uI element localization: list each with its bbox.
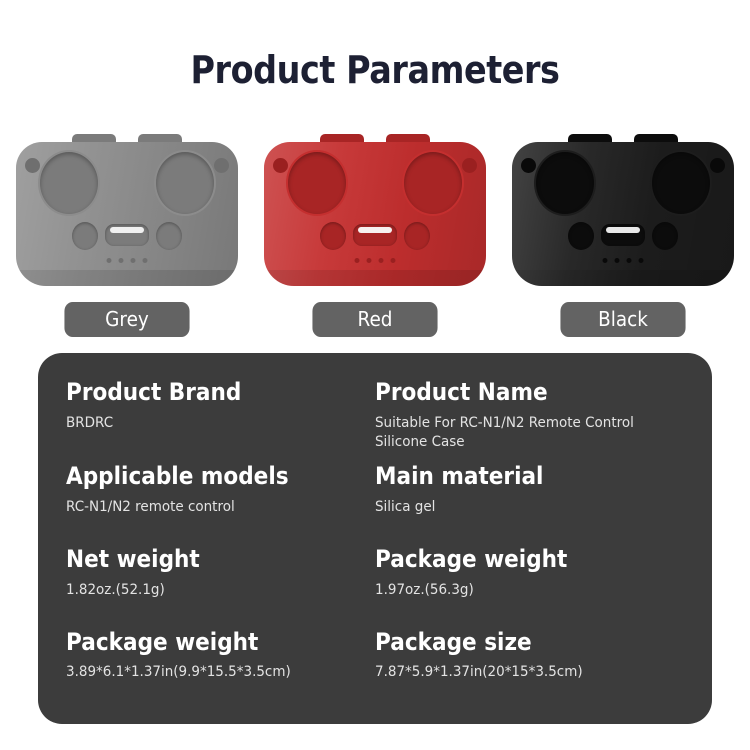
corner-pin-left-icon: [273, 158, 288, 173]
page-title: Product Parameters: [45, 48, 705, 92]
center-slot-icon: [105, 224, 149, 246]
spec-cell-package-weight: Package weight 1.97oz.(56.3g): [375, 536, 684, 619]
spec-value: 3.89*6.1*1.37in(9.9*15.5*3.5cm): [66, 663, 346, 701]
side-button-right-icon: [404, 222, 430, 250]
spec-value: BRDRC: [66, 414, 346, 452]
spec-value: 1.97oz.(56.3g): [375, 581, 655, 619]
indicator-dots-icon: [603, 258, 644, 263]
spec-cell-net-weight: Net weight 1.82oz.(52.1g): [66, 536, 375, 619]
controller-case-grey: [16, 134, 238, 286]
product-image-grey[interactable]: [9, 128, 245, 298]
joystick-well-left-icon: [40, 152, 98, 214]
joystick-well-right-icon: [156, 152, 214, 214]
spec-label: Package weight: [66, 628, 337, 657]
color-option-black[interactable]: Black: [560, 302, 685, 337]
side-button-left-icon: [72, 222, 98, 250]
spec-grid: Product Brand BRDRC Product Name Suitabl…: [38, 369, 712, 701]
spec-cell-package-weight-dimensions: Package weight 3.89*6.1*1.37in(9.9*15.5*…: [66, 619, 375, 702]
product-gallery: [0, 128, 750, 298]
side-button-right-icon: [156, 222, 182, 250]
center-slot-inner-icon: [110, 227, 144, 233]
spec-label: Package size: [375, 628, 646, 657]
side-button-left-icon: [320, 222, 346, 250]
corner-pin-left-icon: [521, 158, 536, 173]
controller-case-black: [512, 134, 734, 286]
corner-pin-right-icon: [710, 158, 725, 173]
spec-label: Product Brand: [66, 378, 337, 407]
spec-cell-product-name: Product Name Suitable For RC-N1/N2 Remot…: [375, 369, 684, 453]
spec-value: 7.87*5.9*1.37in(20*15*3.5cm): [375, 663, 655, 701]
center-slot-inner-icon: [606, 227, 640, 233]
controller-case-red: [264, 134, 486, 286]
spec-label: Package weight: [375, 545, 646, 574]
spec-label: Main material: [375, 462, 646, 491]
joystick-well-right-icon: [652, 152, 710, 214]
spec-label: Applicable models: [66, 462, 337, 491]
spec-value: Suitable For RC-N1/N2 Remote Control Sil…: [375, 414, 655, 453]
spec-value: 1.82oz.(52.1g): [66, 581, 346, 619]
spec-value: RC-N1/N2 remote control: [66, 498, 346, 536]
spec-cell-product-brand: Product Brand BRDRC: [66, 369, 375, 453]
color-option-red[interactable]: Red: [312, 302, 437, 337]
center-slot-icon: [601, 224, 645, 246]
spec-panel: Product Brand BRDRC Product Name Suitabl…: [38, 353, 712, 724]
center-slot-inner-icon: [358, 227, 392, 233]
spec-label: Net weight: [66, 545, 337, 574]
product-image-black[interactable]: [505, 128, 741, 298]
corner-pin-right-icon: [462, 158, 477, 173]
indicator-dots-icon: [355, 258, 396, 263]
spec-cell-main-material: Main material Silica gel: [375, 453, 684, 536]
spec-label: Product Name: [375, 378, 646, 407]
side-button-left-icon: [568, 222, 594, 250]
product-image-red[interactable]: [257, 128, 493, 298]
color-option-row: Grey Red Black: [0, 302, 750, 337]
center-slot-icon: [353, 224, 397, 246]
spec-value: Silica gel: [375, 498, 655, 536]
joystick-well-left-icon: [536, 152, 594, 214]
side-button-right-icon: [652, 222, 678, 250]
joystick-well-left-icon: [288, 152, 346, 214]
corner-pin-right-icon: [214, 158, 229, 173]
indicator-dots-icon: [107, 258, 148, 263]
spec-cell-applicable-models: Applicable models RC-N1/N2 remote contro…: [66, 453, 375, 536]
joystick-well-right-icon: [404, 152, 462, 214]
corner-pin-left-icon: [25, 158, 40, 173]
spec-cell-package-size: Package size 7.87*5.9*1.37in(20*15*3.5cm…: [375, 619, 684, 702]
color-option-grey[interactable]: Grey: [64, 302, 189, 337]
